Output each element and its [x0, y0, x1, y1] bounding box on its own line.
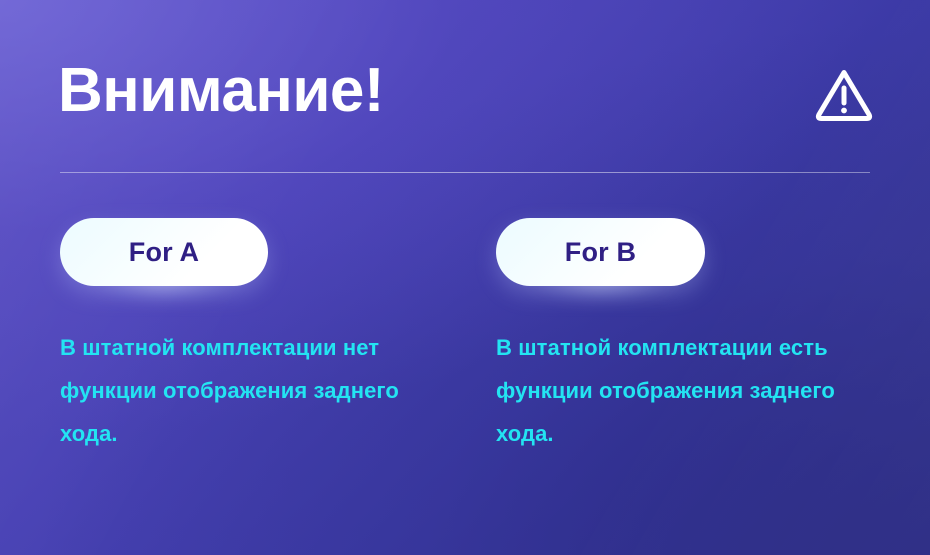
- warning-slide: Внимание! For A В штатной комплектации н…: [0, 0, 930, 555]
- column-for-b: For B В штатной комплектации есть функци…: [496, 218, 896, 286]
- header-divider: [60, 172, 870, 173]
- for-b-button[interactable]: For B: [496, 218, 705, 286]
- pill-wrapper-b: For B: [496, 218, 896, 286]
- page-title: Внимание!: [58, 54, 384, 128]
- warning-triangle-icon: [812, 62, 876, 126]
- pill-wrapper-a: For A: [60, 218, 460, 286]
- for-a-description: В штатной комплектации нет функции отобр…: [60, 326, 452, 455]
- column-for-a: For A В штатной комплектации нет функции…: [60, 218, 460, 286]
- for-b-description: В штатной комплектации есть функции отоб…: [496, 326, 886, 455]
- for-a-button[interactable]: For A: [60, 218, 268, 286]
